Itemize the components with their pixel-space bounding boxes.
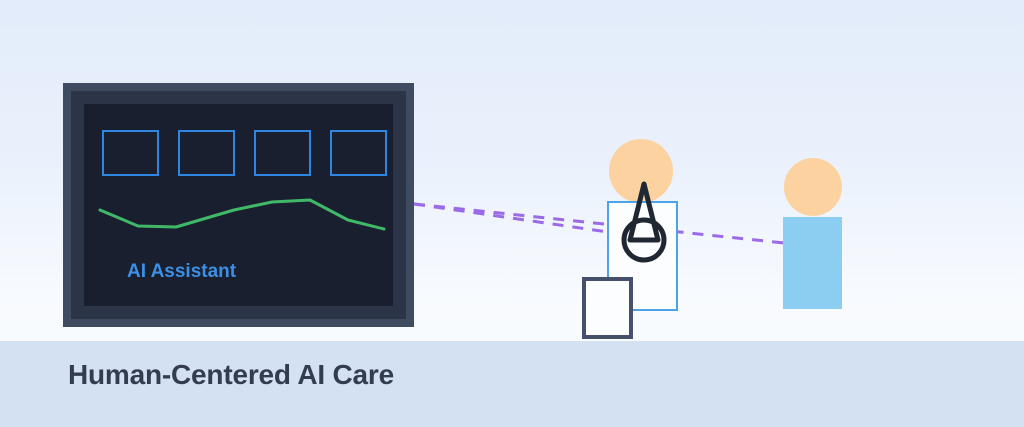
stethoscope-cone — [630, 184, 658, 240]
line-chart-icon — [98, 188, 386, 240]
kpi-card-3[interactable] — [254, 130, 311, 176]
ai-assistant-monitor: AI Assistant — [63, 83, 414, 327]
beam-lower — [414, 204, 608, 232]
monitor-screen: AI Assistant — [84, 104, 393, 306]
monitor-bezel: AI Assistant — [71, 91, 406, 319]
beam-upper — [414, 204, 784, 243]
stethoscope-icon — [618, 178, 670, 264]
page-title: Human-Centered AI Care — [68, 359, 394, 391]
kpi-card-4[interactable] — [330, 130, 387, 176]
illustration-canvas: AI Assistant Human-Centered AI Care — [0, 0, 1024, 427]
patient-head — [784, 158, 842, 216]
tablet-icon — [582, 277, 633, 339]
monitor-label: AI Assistant — [127, 261, 236, 283]
sparkline-path — [100, 200, 384, 229]
patient-body — [783, 217, 842, 309]
kpi-card-2[interactable] — [178, 130, 235, 176]
kpi-card-1[interactable] — [102, 130, 159, 176]
